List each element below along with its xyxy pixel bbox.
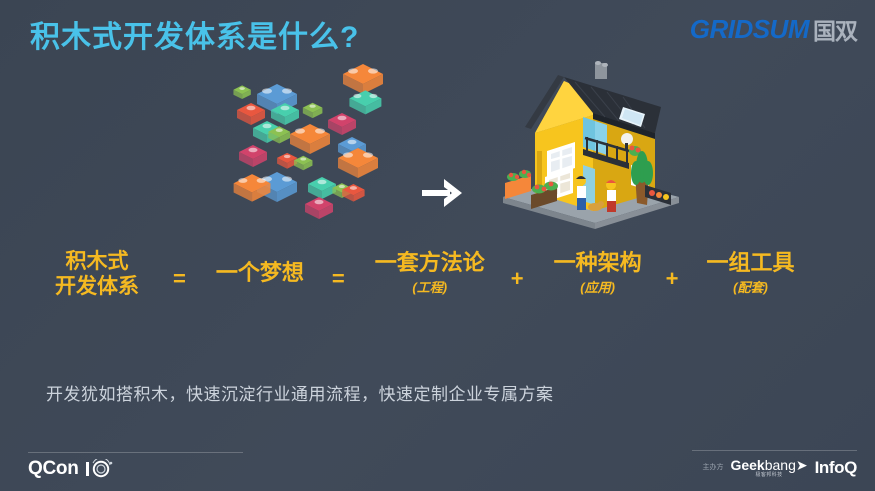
infoq-logo-text: InfoQ [815, 458, 857, 478]
equation-term-subject: 积木式 开发体系 [55, 250, 139, 300]
term-architecture-sub: (应用) [580, 280, 615, 295]
footer-divider-right [692, 450, 857, 451]
qcon-logo: QCon [28, 458, 115, 480]
page-title: 积木式开发体系是什么? [30, 12, 359, 56]
scattered-lego-bricks-image [195, 60, 400, 225]
subject-line-1: 积木式 [66, 250, 129, 275]
illustration-band [0, 55, 875, 230]
subject-line-2: 开发体系 [55, 275, 139, 300]
term-architecture-main: 一种架构 [554, 250, 642, 276]
assembled-lego-house-image [495, 55, 685, 230]
caption-text: 开发犹如搭积木，快速沉淀行业通用流程，快速定制企业专属方案 [46, 380, 554, 405]
equation-operator-3: + [511, 250, 524, 292]
term-tools-main: 一组工具 [706, 250, 794, 276]
geekbang-logo: Geekbang➤ 极客邦科技 [730, 458, 807, 478]
geekbang-logo-subtext: 极客邦科技 [756, 473, 783, 478]
gridsum-logo-en: GRIDSUM [690, 14, 809, 45]
term-dream-main: 一个梦想 [216, 260, 304, 286]
term-methodology-main: 一套方法论 [375, 250, 485, 276]
equation-operator-4: + [666, 250, 679, 292]
geekbang-logo-text: Geekbang➤ [730, 458, 807, 472]
slide-root: 积木式开发体系是什么? GRIDSUM 国双 [0, 0, 875, 491]
right-arrow-icon [418, 173, 466, 213]
equation-row: 积木式 开发体系 = 一个梦想 = 一套方法论 (工程) + 一种架构 (应用)… [0, 250, 875, 345]
equation-operator-1: = [173, 250, 186, 292]
equation-term-methodology: 一套方法论 (工程) [375, 250, 485, 295]
equation-term-tools: 一组工具 (配套) [706, 250, 794, 295]
gridsum-logo: GRIDSUM 国双 [690, 12, 857, 46]
term-methodology-sub: (工程) [412, 280, 447, 295]
host-label: 主办方 [702, 464, 723, 472]
qcon-anniversary-icon [85, 459, 115, 479]
gridsum-logo-cn: 国双 [813, 12, 857, 46]
equation-term-architecture: 一种架构 (应用) [554, 250, 642, 295]
footer-divider-left [28, 452, 243, 453]
equation-operator-2: = [332, 250, 345, 292]
equation-term-dream: 一个梦想 [216, 250, 304, 286]
qcon-logo-text: QCon [28, 458, 79, 480]
term-tools-sub: (配套) [733, 280, 768, 295]
sponsor-block: 主办方 Geekbang➤ 极客邦科技 InfoQ [702, 458, 857, 478]
